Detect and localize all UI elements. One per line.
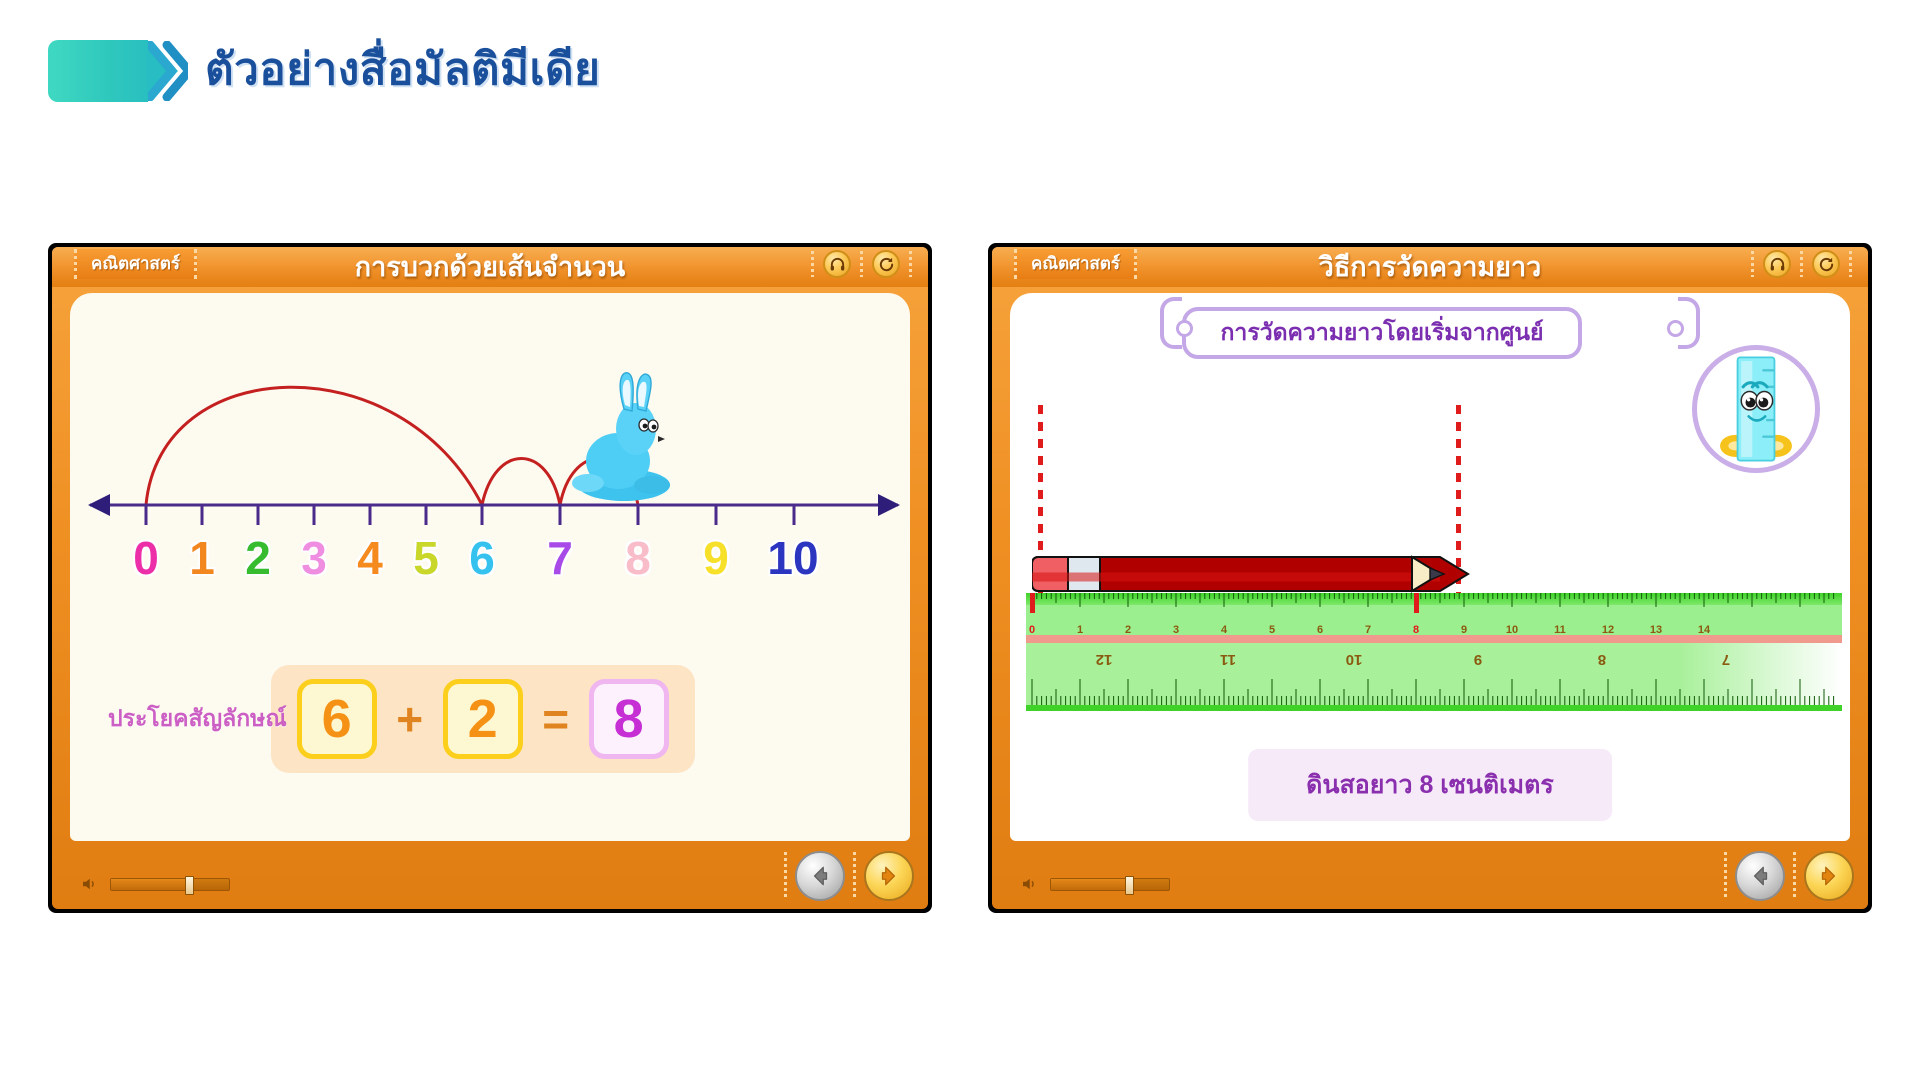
navigation-buttons [784,851,914,901]
equation-box: 6 + 2 = 8 [271,665,695,773]
nav-divider [853,852,856,900]
media-panel-measurement[interactable]: คณิตศาสตร์ วิธีการวัดความยาว [988,243,1872,913]
svg-text:13: 13 [1650,624,1662,636]
next-arrow-icon[interactable] [864,851,914,901]
replay-icon[interactable] [1812,250,1840,278]
svg-text:14: 14 [1698,624,1711,636]
volume-fill [1051,879,1129,890]
rabbit-icon [572,373,670,501]
double-chevron-icon [148,41,188,101]
page-title: ตัวอย่างสื่อมัลติมีเดีย [205,38,600,102]
prev-arrow-icon[interactable] [1735,851,1785,901]
stage-addition: 0 1 2 3 4 5 6 7 8 9 10 ประโยคสัญลักษณ์ 6 [70,293,910,841]
numberline-label-2: 2 [234,531,282,585]
panel-titlebar: คณิตศาสตร์ การบวกด้วยเส้นจำนวน [52,247,928,287]
headphones-icon[interactable] [823,250,851,278]
answer-banner: ดินสอยาว 8 เซนติเมตร [1248,749,1612,821]
svg-text:2: 2 [1125,624,1131,636]
volume-control[interactable] [1018,873,1170,895]
panel-footer [992,837,1868,909]
svg-text:10: 10 [1506,624,1518,636]
panel-heading: การบวกด้วยเส้นจำนวน [52,248,928,286]
volume-fill [111,879,189,890]
icon-divider [909,251,912,277]
volume-slider[interactable] [1050,878,1170,891]
ruler-icon: 0 1 2 3 4 5 6 7 8 9 10 11 12 13 [1026,593,1842,713]
speaker-icon[interactable] [1018,873,1040,895]
panel-heading: วิธีการวัดความยาว [992,248,1868,286]
titlebar-icon-group [811,250,912,278]
next-arrow-icon[interactable] [1804,851,1854,901]
headphones-icon[interactable] [1763,250,1791,278]
svg-text:9: 9 [1474,651,1482,668]
ruler-mark-8 [1414,593,1419,613]
nav-divider [784,852,787,900]
svg-text:9: 9 [1461,624,1467,636]
svg-text:4: 4 [1221,624,1228,636]
numberline-labels: 0 1 2 3 4 5 6 7 8 9 10 [70,531,910,601]
volume-slider[interactable] [110,878,230,891]
arc-6-to-7 [482,459,560,506]
svg-text:6: 6 [1317,624,1323,636]
logo-mark [48,40,148,102]
svg-text:10: 10 [1346,651,1363,668]
icon-divider [1849,251,1852,277]
numberline-label-8: 8 [614,531,662,585]
addend-a-tile[interactable]: 6 [297,679,377,759]
result-tile[interactable]: 8 [589,679,669,759]
numberline-label-6: 6 [458,531,506,585]
titlebar-icon-group [1751,250,1852,278]
numberline-label-4: 4 [346,531,394,585]
numberline-label-1: 1 [178,531,226,585]
icon-divider [1751,251,1754,277]
ruler-mark-0 [1030,593,1035,613]
svg-text:12: 12 [1096,651,1113,668]
svg-text:8: 8 [1413,624,1419,636]
prev-arrow-icon[interactable] [795,851,845,901]
numberline-label-0: 0 [122,531,170,585]
svg-text:8: 8 [1598,651,1606,668]
volume-control[interactable] [78,873,230,895]
page-header: ตัวอย่างสื่อมัลติมีเดีย [0,0,1920,150]
addend-b-tile[interactable]: 2 [443,679,523,759]
svg-text:1: 1 [1077,624,1083,636]
equation-row: ประโยคสัญลักษณ์ 6 + 2 = 8 [108,665,695,773]
numberline-label-9: 9 [692,531,740,585]
replay-icon[interactable] [872,250,900,278]
icon-divider [1800,251,1803,277]
axis-arrow-right [878,494,900,516]
volume-knob[interactable] [1125,876,1134,895]
svg-text:12: 12 [1602,624,1614,636]
pencil-icon [1032,549,1472,599]
svg-text:7: 7 [1722,651,1730,668]
svg-text:0: 0 [1029,624,1035,636]
numberline-label-3: 3 [290,531,338,585]
stage-measurement: การวัดความยาวโดยเริ่มจากศูนย์ [1010,293,1850,841]
icon-divider [811,251,814,277]
icon-divider [860,251,863,277]
numberline-label-7: 7 [536,531,584,585]
svg-text:11: 11 [1554,624,1566,636]
speaker-icon[interactable] [78,873,100,895]
arc-0-to-6 [146,387,482,505]
nav-divider [1724,852,1727,900]
navigation-buttons [1724,851,1854,901]
numberline-label-5: 5 [402,531,450,585]
svg-text:5: 5 [1269,624,1275,636]
equals-operator: = [539,696,573,742]
panel-footer [52,837,928,909]
numberline-label-10: 10 [762,531,824,585]
numberline-scene: 0 1 2 3 4 5 6 7 8 9 10 [70,293,910,613]
axis-ticks [146,505,794,525]
media-panel-addition[interactable]: คณิตศาสตร์ การบวกด้วยเส้นจำนวน [48,243,932,913]
svg-text:7: 7 [1365,624,1371,636]
svg-text:11: 11 [1220,651,1236,668]
equation-label: ประโยคสัญลักษณ์ [108,701,287,737]
plus-operator: + [393,696,427,742]
axis-arrow-left [88,494,110,516]
volume-knob[interactable] [185,876,194,895]
svg-text:3: 3 [1173,624,1179,636]
panel-titlebar: คณิตศาสตร์ วิธีการวัดความยาว [992,247,1868,287]
nav-divider [1793,852,1796,900]
